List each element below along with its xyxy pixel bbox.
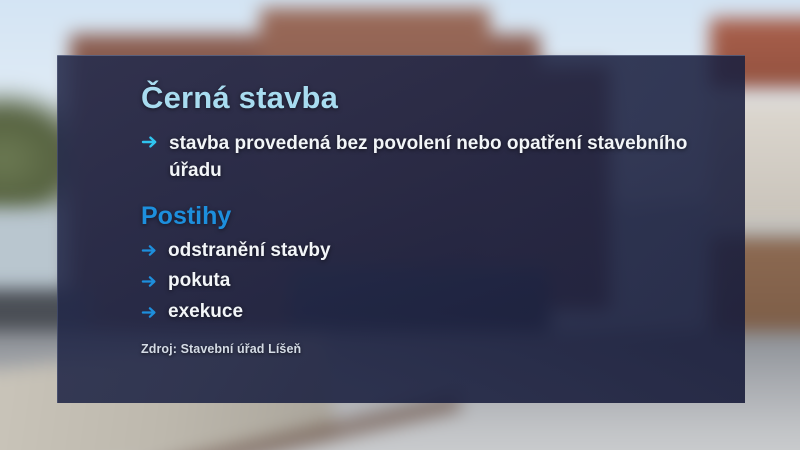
info-panel: Černá stavba stavba provedená bez povole… [57, 55, 745, 403]
list-item: pokuta [141, 268, 711, 295]
arrow-right-icon [141, 273, 158, 290]
definition-row: stavba provedená bez povolení nebo opatř… [141, 131, 711, 185]
broadcast-graphic-screen: Černá stavba stavba provedená bez povole… [0, 0, 800, 450]
penalties-list: odstranění stavby pokuta exekuce [141, 238, 711, 326]
list-item: exekuce [141, 299, 711, 326]
source-attribution: Zdroj: Stavební úřad Líšeň [141, 342, 711, 356]
list-item-label: odstranění stavby [168, 238, 331, 265]
arrow-right-icon [141, 242, 158, 259]
arrow-right-icon [141, 304, 158, 321]
penalties-heading: Postihy [141, 203, 711, 231]
panel-title: Černá stavba [141, 81, 711, 115]
list-item-label: pokuta [168, 268, 230, 295]
arrow-right-icon [141, 133, 159, 151]
list-item: odstranění stavby [141, 238, 711, 265]
definition-text: stavba provedená bez povolení nebo opatř… [169, 131, 689, 185]
list-item-label: exekuce [168, 299, 243, 326]
